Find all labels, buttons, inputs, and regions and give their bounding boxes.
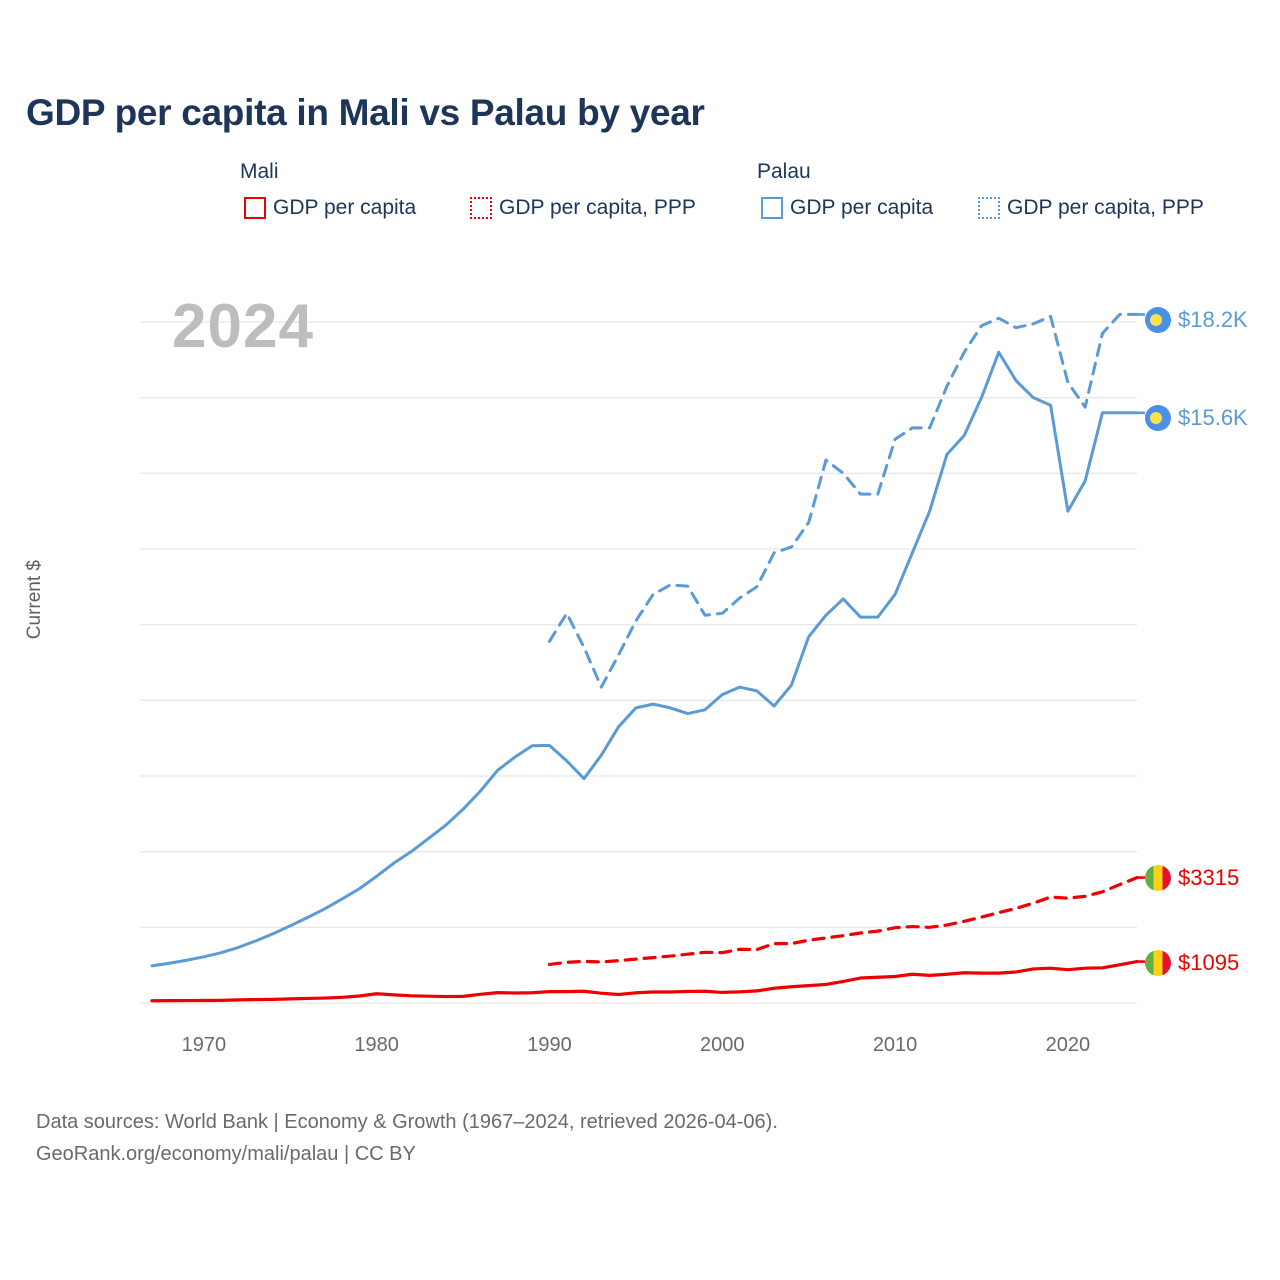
series-line-2 [152, 352, 1137, 966]
year-watermark: 2024 [172, 296, 314, 358]
x-axis-tick-label: 1990 [527, 1034, 572, 1057]
legend-item-label: GDP per capita [273, 196, 416, 220]
legend-item-label: GDP per capita [790, 196, 933, 220]
mali-flag-icon [1145, 865, 1171, 891]
end-label-mali-2: $3315 [1145, 865, 1239, 891]
legend-item-mali-0[interactable]: GDP per capita [244, 196, 416, 220]
x-axis-tick-label: 2000 [700, 1034, 745, 1057]
x-axis-tick-label: 2020 [1046, 1034, 1091, 1057]
legend-group-title-palau: Palau [757, 160, 811, 184]
mali-flag-icon [1145, 950, 1171, 976]
series-line-3 [549, 314, 1137, 687]
end-label-palau-1: $15.6K [1145, 405, 1248, 431]
x-axis-tick-label: 2010 [873, 1034, 918, 1057]
footer-credits: Data sources: World Bank | Economy & Gro… [36, 1106, 778, 1171]
end-label-palau-0: $18.2K [1145, 307, 1248, 333]
legend-swatch-icon [470, 197, 492, 219]
legend-item-label: GDP per capita, PPP [499, 196, 696, 220]
end-label-value: $1095 [1178, 950, 1239, 976]
palau-flag-icon [1145, 307, 1171, 333]
series-line-1 [549, 878, 1137, 965]
legend-swatch-icon [244, 197, 266, 219]
legend-item-palau-0[interactable]: GDP per capita [761, 196, 933, 220]
footer-line-1: Data sources: World Bank | Economy & Gro… [36, 1106, 778, 1138]
legend-group-title-mali: Mali [240, 160, 279, 184]
x-axis-tick-label: 1980 [354, 1034, 399, 1057]
y-axis-ticks: $18K$16K$14K$12K$10K$8000$6000$4000$2000… [0, 0, 152, 1280]
legend-swatch-icon [761, 197, 783, 219]
legend-swatch-icon [978, 197, 1000, 219]
series-line-0 [152, 962, 1137, 1001]
end-label-value: $3315 [1178, 865, 1239, 891]
end-label-value: $18.2K [1178, 307, 1248, 333]
end-label-value: $15.6K [1178, 405, 1248, 431]
footer-line-2: GeoRank.org/economy/mali/palau | CC BY [36, 1138, 778, 1170]
palau-flag-icon [1145, 405, 1171, 431]
x-axis-tick-label: 1970 [182, 1034, 227, 1057]
legend-item-palau-1[interactable]: GDP per capita, PPP [978, 196, 1204, 220]
legend-item-mali-1[interactable]: GDP per capita, PPP [470, 196, 696, 220]
chart-legend: MaliGDP per capitaGDP per capita, PPPPal… [0, 160, 1280, 240]
legend-item-label: GDP per capita, PPP [1007, 196, 1204, 220]
end-label-mali-3: $1095 [1145, 950, 1239, 976]
